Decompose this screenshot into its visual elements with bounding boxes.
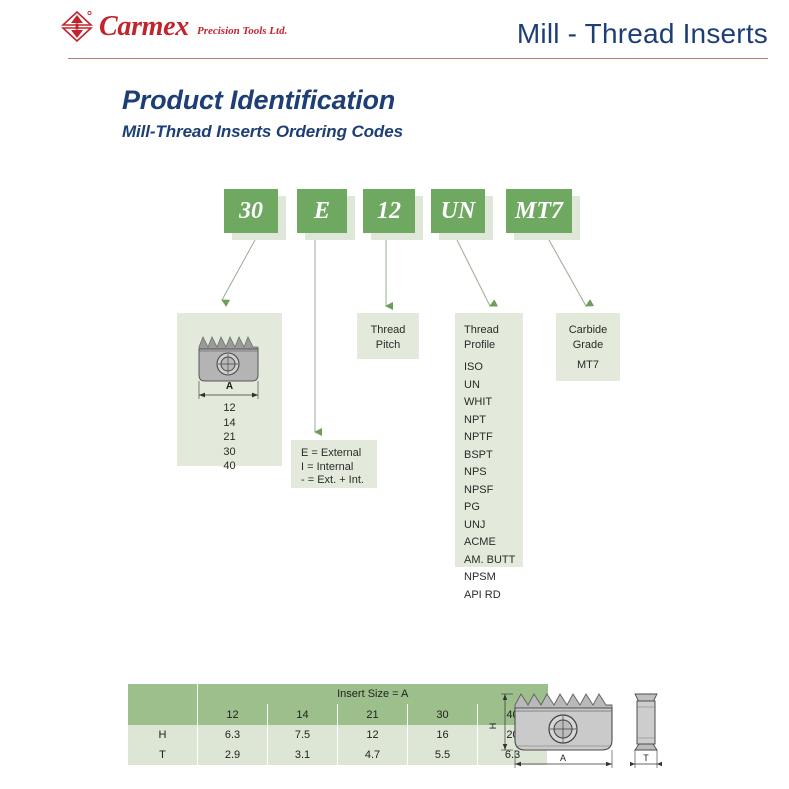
table-row: T 2.9 3.1 4.7 5.5 6.3	[128, 745, 548, 765]
table-cell: 5.5	[408, 745, 478, 765]
table-corner-cell	[128, 704, 198, 725]
table-cell: 7.5	[268, 725, 338, 745]
table-corner-cell	[128, 684, 198, 704]
panel-heading-line: Thread	[464, 323, 499, 338]
insert-dimension-drawing-icon: H A T	[487, 688, 667, 773]
code-box-insert-size[interactable]: 30	[224, 189, 278, 233]
thread-profile-list: ISO UN WHIT NPT NPTF BSPT NPS NPSF PG UN…	[464, 359, 515, 604]
list-item: UNJ	[464, 517, 515, 535]
code-box-label: 12	[377, 198, 401, 225]
list-item: NPTF	[464, 429, 515, 447]
list-item: - = Ext. + Int.	[301, 474, 364, 488]
section-title: Product Identification	[122, 85, 395, 116]
brand-subtitle: Precision Tools Ltd.	[197, 25, 287, 37]
panel-heading-line: Carbide	[556, 323, 620, 338]
panel-heading-line: Thread	[357, 323, 419, 338]
panel-external-internal: E = External I = Internal - = Ext. + Int…	[291, 440, 377, 488]
table-cell: 4.7	[338, 745, 408, 765]
table-row: H 6.3 7.5 12 16 20	[128, 725, 548, 745]
document-page: Mill - Thread Inserts Carmex Precision T…	[0, 0, 789, 789]
section-subtitle: Mill-Thread Inserts Ordering Codes	[122, 122, 403, 142]
list-item: WHIT	[464, 394, 515, 412]
panel-heading-line: Profile	[464, 338, 499, 353]
code-box-carbide-grade[interactable]: MT7	[506, 189, 572, 233]
list-item: AM. BUTT	[464, 552, 515, 570]
brand-name: Carmex	[99, 13, 189, 41]
carbide-grade-list: MT7	[556, 358, 620, 373]
list-item: 30	[177, 445, 282, 460]
list-item: 21	[177, 430, 282, 445]
table-row-label: T	[128, 745, 198, 765]
code-box-label: MT7	[515, 198, 563, 225]
dimension-label-a: A	[177, 381, 282, 392]
list-item: NPT	[464, 412, 515, 430]
table-column-header: 21	[338, 704, 408, 725]
list-item: BSPT	[464, 447, 515, 465]
technical-drawings: H A T	[487, 688, 667, 773]
list-item: E = External	[301, 447, 364, 461]
table-cell: 2.9	[198, 745, 268, 765]
list-item: NPSF	[464, 482, 515, 500]
panel-heading-line: Grade	[556, 338, 620, 353]
code-box-label: UN	[441, 198, 476, 225]
svg-text:H: H	[488, 723, 498, 730]
svg-text:T: T	[643, 753, 649, 763]
insert-front-view-drawing-icon	[177, 317, 282, 412]
page-title: Mill - Thread Inserts	[517, 18, 768, 50]
table-column-header: 12	[198, 704, 268, 725]
carmex-triangle-logo-icon	[60, 10, 94, 43]
code-box-thread-pitch[interactable]: 12	[363, 189, 415, 233]
list-item: 12	[177, 401, 282, 416]
dimension-table: Insert Size = A 12 14 21 30 40 H 6.3 7.5…	[128, 684, 548, 765]
list-item: 14	[177, 416, 282, 431]
list-item: NPSM	[464, 569, 515, 587]
table-cell: 12	[338, 725, 408, 745]
header-divider	[68, 58, 768, 59]
list-item: API RD	[464, 587, 515, 605]
list-item: ISO	[464, 359, 515, 377]
code-box-label: 30	[239, 198, 263, 225]
code-box-thread-profile[interactable]: UN	[431, 189, 485, 233]
list-item: ACME	[464, 534, 515, 552]
list-item: UN	[464, 377, 515, 395]
table-header-row: 12 14 21 30 40	[128, 704, 548, 725]
table-column-header: 30	[408, 704, 478, 725]
panel-carbide-grade: Carbide Grade MT7	[556, 313, 620, 381]
panel-thread-pitch: Thread Pitch	[357, 313, 419, 359]
svg-text:A: A	[560, 753, 566, 763]
panel-insert-size: A 12 14 21 30 40	[177, 313, 282, 466]
table-cell: 6.3	[198, 725, 268, 745]
list-item: MT7	[556, 358, 620, 373]
list-item: 40	[177, 459, 282, 474]
brand-logo: Carmex Precision Tools Ltd.	[60, 10, 287, 43]
code-box-external-internal[interactable]: E	[297, 189, 347, 233]
table-column-header: 14	[268, 704, 338, 725]
table-row-label: H	[128, 725, 198, 745]
panel-thread-profile: Thread Profile ISO UN WHIT NPT NPTF BSPT…	[455, 313, 523, 567]
list-item: PG	[464, 499, 515, 517]
list-item: I = Internal	[301, 461, 364, 475]
code-box-label: E	[314, 198, 330, 225]
insert-size-list: 12 14 21 30 40	[177, 401, 282, 474]
panel-heading-line: Pitch	[357, 338, 419, 353]
table-cell: 16	[408, 725, 478, 745]
list-item: NPS	[464, 464, 515, 482]
table-cell: 3.1	[268, 745, 338, 765]
table-header-span-row: Insert Size = A	[128, 684, 548, 704]
connector-arrows	[0, 0, 789, 789]
